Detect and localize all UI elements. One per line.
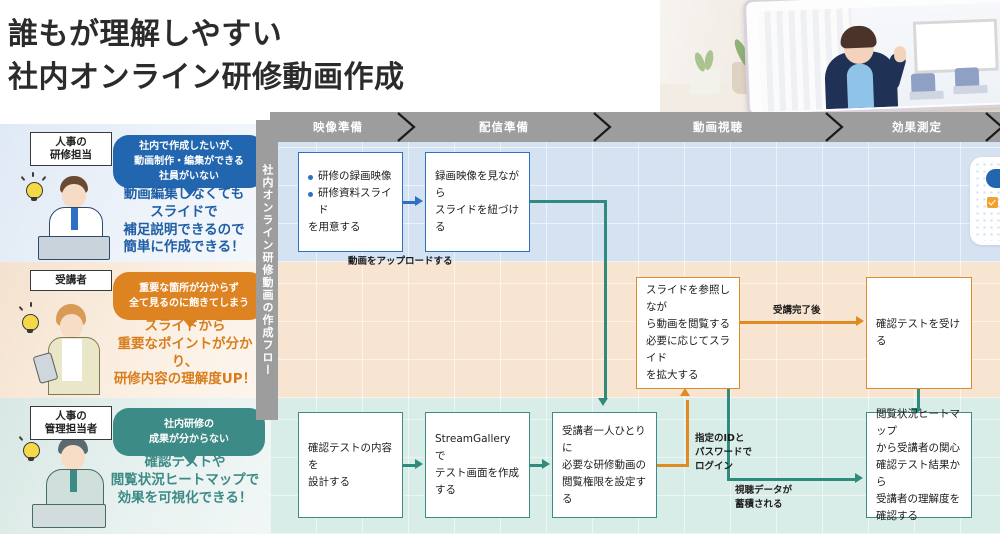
arrow-right-icon bbox=[415, 196, 423, 206]
flow-box-tail: を用意する bbox=[308, 219, 393, 236]
arrow-right-icon bbox=[855, 473, 863, 483]
persona-card-hr-manager: 人事の 管理担当者 社内研修の 成果が分からない 確認テストや 閲覧状況ヒートマ… bbox=[0, 398, 270, 534]
phase-chevron-divider-icon bbox=[396, 112, 418, 142]
photo-tablet-device bbox=[743, 0, 1000, 112]
connector-upload-vertical bbox=[604, 200, 607, 400]
figure-head bbox=[62, 184, 86, 208]
idea-ray-icon bbox=[30, 302, 32, 307]
idea-ray-icon bbox=[21, 176, 26, 181]
connector-permissions-v bbox=[686, 400, 689, 466]
persona-solution-text: 動画編集しなくても スライドで 補足説明できるので 簡単に作成できる！ bbox=[106, 186, 262, 257]
persona-badge: 人事の 管理担当者 bbox=[30, 406, 112, 440]
figure-top bbox=[62, 339, 82, 381]
flow-box-bullet: 研修資料スライド bbox=[308, 185, 393, 219]
hero-photo bbox=[660, 0, 1000, 112]
flow-box-take-test[interactable]: 確認テストを受ける bbox=[866, 277, 972, 389]
page-header: 誰もが理解しやすい 社内オンライン研修動画作成 bbox=[0, 0, 1000, 112]
persona-solution-text: 確認テストや 閲覧状況ヒートマップで 効果を可視化できる！ bbox=[106, 454, 264, 507]
persona-card-trainee: 受講者 重要な箇所が分からず 全て見るのに飽きてしまう スライドから 重要なポイ… bbox=[0, 262, 270, 398]
flow-box-bullet: 研修の録画映像 bbox=[308, 168, 393, 185]
flow-box-analyze-results[interactable]: 閲覧状況ヒートマップ から受講者の関心 確認テスト結果から 受講者の理解度を 確… bbox=[866, 412, 972, 518]
flow-box-text: StreamGalleryで テスト画面を作成する bbox=[435, 431, 520, 499]
flow-box-text-line1: 閲覧状況ヒートマップ から受講者の関心 bbox=[876, 406, 962, 457]
phase-tab-video-watch[interactable]: 動画視聴 bbox=[602, 112, 834, 142]
connector-label-upload: 動画をアップロードする bbox=[348, 255, 453, 269]
idea-ray-icon bbox=[32, 172, 34, 177]
photo-desk bbox=[910, 91, 944, 100]
phase-tab-effect-measure[interactable]: 効果測定 bbox=[834, 112, 1000, 142]
connector-prepare-to-link bbox=[403, 201, 415, 204]
flow-box-watch-with-slides[interactable]: スライドを参照しなが ら動画を閲覧する 必要に応じてスライド を拡大する bbox=[636, 277, 740, 389]
persona-problem-bubble: 社内研修の 成果が分からない bbox=[113, 408, 265, 456]
figure-necktie bbox=[70, 470, 77, 492]
photo-classroom-desks bbox=[909, 66, 1000, 104]
figure-head bbox=[61, 445, 85, 470]
persona-problem-bubble: 社内で作成したいが、 動画制作・編集ができる 社員がいない bbox=[113, 135, 265, 188]
persona-badge: 受講者 bbox=[30, 270, 112, 291]
arrow-down-icon bbox=[598, 398, 608, 406]
persona-card-hr-trainer: 人事の 研修担当 社内で作成したいが、 動画制作・編集ができる 社員がいない 動… bbox=[0, 124, 270, 262]
photo-desk bbox=[953, 85, 987, 94]
connector-data-to-report bbox=[727, 478, 857, 481]
flow-box-text: 確認テストの内容を 設計する bbox=[308, 440, 393, 491]
flow-box-text: 確認テストを受ける bbox=[876, 316, 962, 350]
flow-box-link-slides[interactable]: 録画映像を見ながら スライドを紐づける bbox=[425, 152, 530, 252]
persona-illustration-office-man bbox=[16, 174, 108, 262]
idea-ray-icon bbox=[42, 176, 47, 181]
persona-illustration-manager bbox=[14, 434, 114, 534]
flow-box-set-permissions[interactable]: 受講者一人ひとりに 必要な研修動画の 閲覧権限を設定する bbox=[552, 412, 657, 518]
flow-box-design-test[interactable]: 確認テストの内容を 設計する bbox=[298, 412, 403, 518]
arrow-up-icon bbox=[680, 388, 690, 396]
persona-illustration-woman-phone bbox=[14, 302, 110, 398]
connector-label-login: 指定のIDと パスワードで ログイン bbox=[695, 432, 752, 473]
connector-create-to-permissions bbox=[530, 464, 542, 467]
page-title: 誰もが理解しやすい 社内オンライン研修動画作成 bbox=[8, 14, 405, 99]
figure-laptop bbox=[38, 236, 110, 260]
idea-ray-icon bbox=[19, 436, 24, 441]
flow-box-text: 受講者一人ひとりに 必要な研修動画の 閲覧権限を設定する bbox=[562, 423, 647, 508]
lightbulb-icon bbox=[22, 314, 39, 331]
arrow-right-icon bbox=[415, 459, 423, 469]
connector-upload-horizontal bbox=[530, 200, 606, 203]
flow-box-text: 録画映像を見ながら スライドを紐づける bbox=[435, 168, 520, 236]
phase-tab-video-prep[interactable]: 映像準備 bbox=[270, 112, 406, 142]
check-icon bbox=[987, 197, 998, 208]
flow-box-text-line1: スライドを参照しなが ら動画を閲覧する bbox=[646, 282, 730, 333]
connector-permissions-h bbox=[657, 464, 689, 467]
photo-whiteboard bbox=[913, 19, 999, 74]
connector-label-after-completion: 受講完了後 bbox=[773, 304, 821, 318]
lightbulb-icon bbox=[23, 442, 40, 459]
connector-watch-to-test bbox=[740, 321, 858, 324]
arrow-right-icon bbox=[542, 459, 550, 469]
idea-ray-icon bbox=[19, 306, 24, 311]
vertical-flow-label: 社内オンライン研修動画の作成フロー bbox=[256, 120, 278, 420]
phase-chevron-divider-icon bbox=[592, 112, 614, 142]
flow-box-create-test-screen[interactable]: StreamGalleryで テスト画面を作成する bbox=[425, 412, 530, 518]
persona-solution-text: スライドから 重要なポイントが分かり、 研修内容の理解度UP！ bbox=[106, 318, 264, 389]
point-callout-box: ポイント 章ごとに扉ページスライドを作成し 動画と紐づけておくと、受講者が必要な… bbox=[970, 157, 1000, 245]
phase-chevron-divider-icon bbox=[984, 112, 1000, 142]
photo-presenter-hair bbox=[840, 25, 877, 48]
arrow-right-icon bbox=[856, 316, 864, 326]
photo-small-plant-pot bbox=[690, 70, 720, 94]
flow-box-text-line2: 確認テスト結果から 受講者の理解度を 確認する bbox=[876, 457, 962, 525]
flow-diagram: 映像準備 配信準備 動画視聴 効果測定 研修の録画映像 研修資料スライド を用意… bbox=[270, 112, 1000, 534]
figure-laptop bbox=[32, 504, 106, 528]
figure-head bbox=[60, 314, 83, 338]
flow-box-text-line2: 必要に応じてスライド を拡大する bbox=[646, 333, 730, 384]
connector-design-to-create bbox=[403, 464, 415, 467]
phase-chevron-divider-icon bbox=[824, 112, 846, 142]
photo-presenter bbox=[815, 18, 906, 109]
figure-necktie bbox=[71, 208, 78, 230]
connector-label-data-accumulates: 視聴データが 蓄積される bbox=[735, 484, 792, 512]
photo-presenter-hand bbox=[894, 46, 907, 62]
flow-box-prepare-materials[interactable]: 研修の録画映像 研修資料スライド を用意する bbox=[298, 152, 403, 252]
phase-bar: 映像準備 配信準備 動画視聴 効果測定 bbox=[270, 112, 1000, 142]
persona-problem-bubble: 重要な箇所が分からず 全て見るのに飽きてしまう bbox=[113, 272, 265, 320]
lightbulb-icon bbox=[26, 182, 43, 199]
photo-tablet-screen bbox=[758, 2, 1000, 111]
persona-badge: 人事の 研修担当 bbox=[30, 132, 112, 166]
photo-presenter-shirt bbox=[846, 63, 874, 108]
point-badge: ポイント bbox=[986, 169, 1000, 188]
phase-tab-delivery-prep[interactable]: 配信準備 bbox=[406, 112, 602, 142]
